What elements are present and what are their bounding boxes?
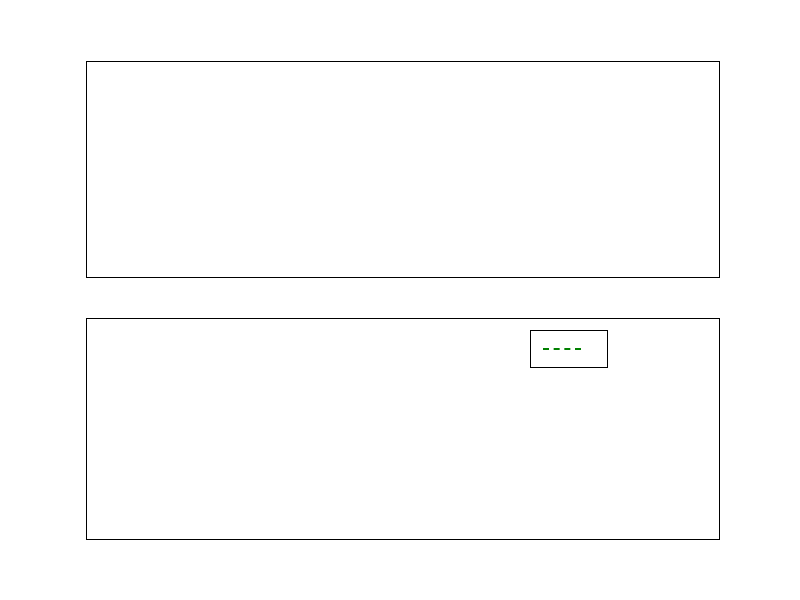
legend-dashed-line-swatch — [543, 348, 581, 350]
bottom-cumulative-axes — [86, 318, 720, 540]
histogram-bars-layer — [87, 62, 719, 277]
legend — [530, 330, 608, 368]
cumulative-curve-layer — [87, 319, 719, 539]
top-differential-histogram-axes — [86, 61, 720, 278]
figure-canvas — [0, 0, 800, 600]
